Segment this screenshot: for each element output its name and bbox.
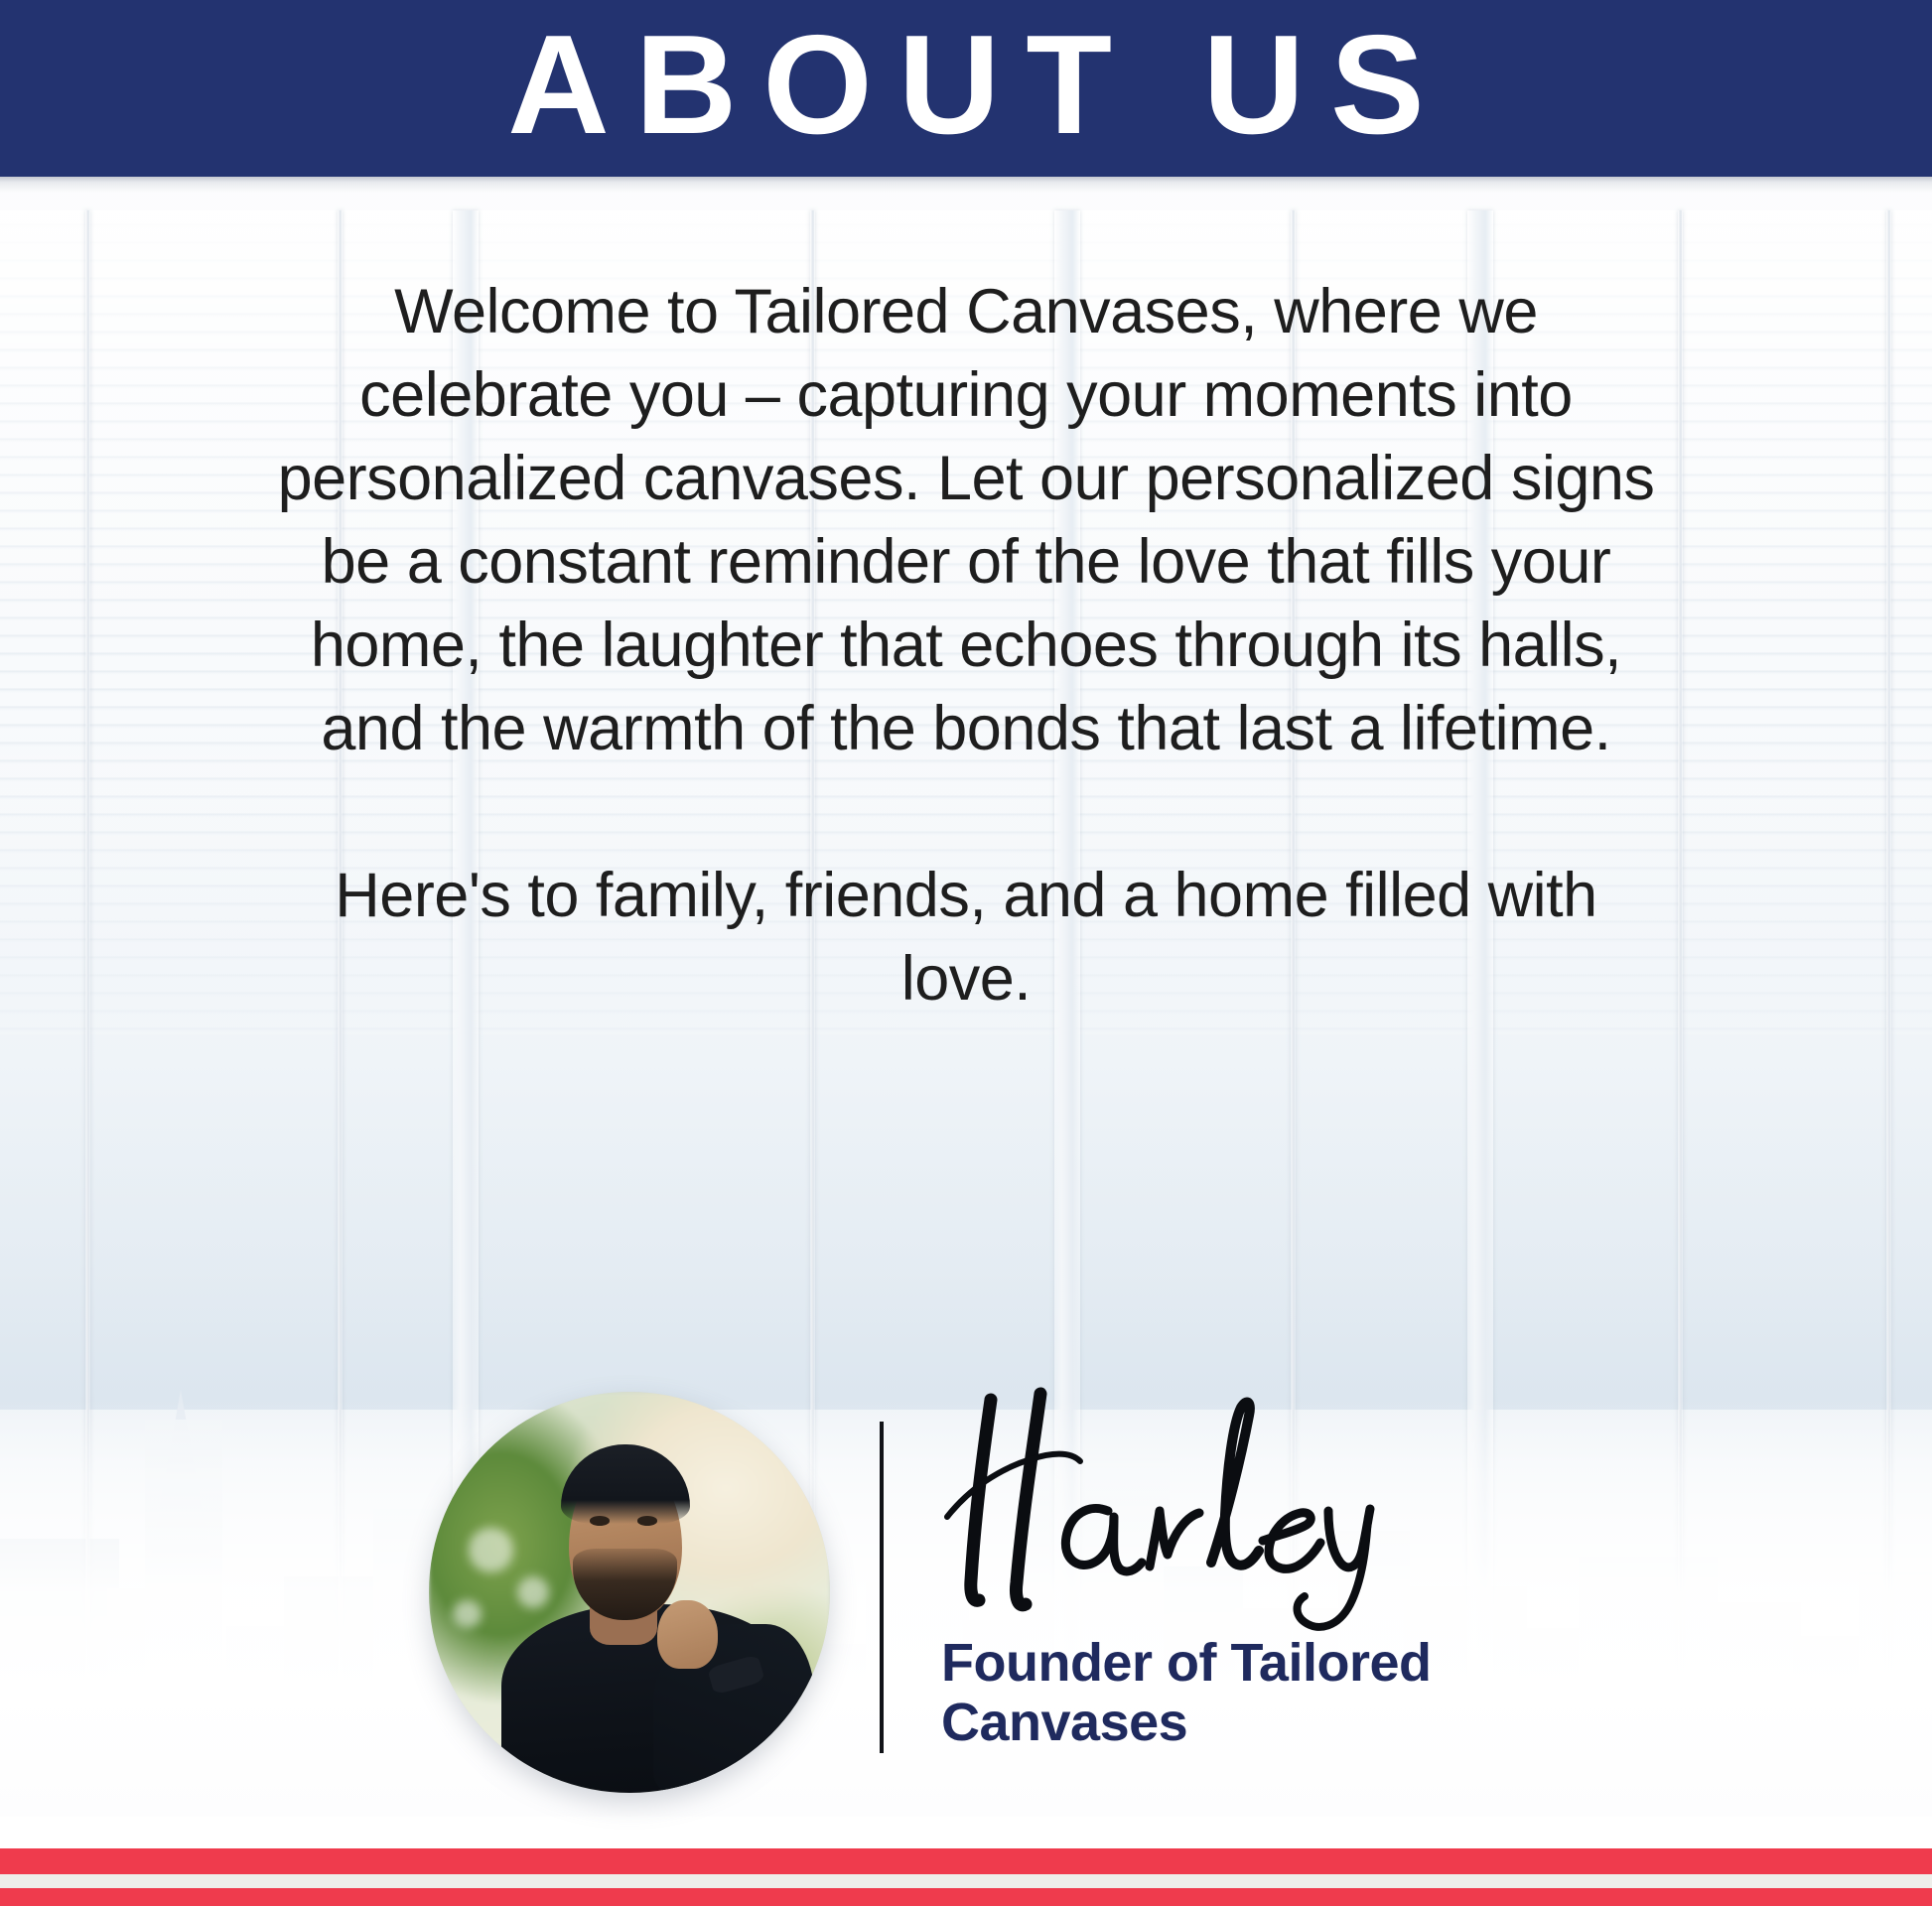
footer-stripe-top xyxy=(0,1848,1932,1874)
footer-stripe-bottom xyxy=(0,1888,1932,1906)
paragraph-spacer xyxy=(271,770,1661,854)
page-title: ABOUT US xyxy=(482,15,1450,156)
avatar-portrait-illustration xyxy=(429,1392,830,1793)
founder-role-line-1: Founder of Tailored xyxy=(941,1633,1577,1693)
founder-role-line-2: Canvases xyxy=(941,1693,1577,1752)
about-body-copy: Welcome to Tailored Canvases, where we c… xyxy=(271,270,1661,1021)
header-drop-shadow xyxy=(0,177,1932,193)
founder-role-text: Founder of Tailored Canvases xyxy=(941,1633,1577,1752)
about-paragraph-2: Here's to family, friends, and a home fi… xyxy=(271,854,1661,1021)
avatar xyxy=(429,1392,830,1793)
signature-divider xyxy=(880,1422,884,1753)
founder-signature-script xyxy=(913,1386,1449,1634)
founder-signature-block: Founder of Tailored Canvases xyxy=(0,1380,1932,1807)
about-us-poster: ABOUT US Welcome to Tailored Canvases, w… xyxy=(0,0,1932,1906)
about-paragraph-1: Welcome to Tailored Canvases, where we c… xyxy=(271,270,1661,770)
footer-stripe-gap xyxy=(0,1874,1932,1888)
header-bar: ABOUT US xyxy=(0,0,1932,177)
